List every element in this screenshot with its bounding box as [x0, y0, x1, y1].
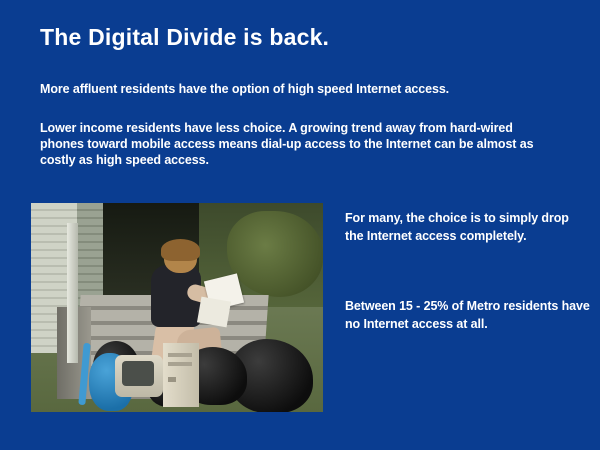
right-column-paragraph-2: Between 15 - 25% of Metro residents have… [345, 297, 590, 333]
body-paragraph-1: More affluent residents have the option … [40, 81, 570, 97]
right-column-paragraph-1: For many, the choice is to simply drop t… [345, 209, 590, 245]
photo-monitor-screen [122, 361, 154, 386]
photo-tower-power-button [168, 377, 176, 382]
slide: The Digital Divide is back. More affluen… [0, 0, 600, 450]
photo-railing-post [67, 223, 78, 363]
slide-photo [31, 203, 323, 412]
photo-tower-drive-slot [168, 353, 192, 357]
page-title: The Digital Divide is back. [40, 24, 329, 51]
photo-paper-sheet-second [197, 297, 231, 328]
body-paragraph-2: Lower income residents have less choice.… [40, 120, 556, 168]
photo-person-hair [161, 239, 200, 261]
photo-tower-drive-slot-second [168, 362, 192, 366]
